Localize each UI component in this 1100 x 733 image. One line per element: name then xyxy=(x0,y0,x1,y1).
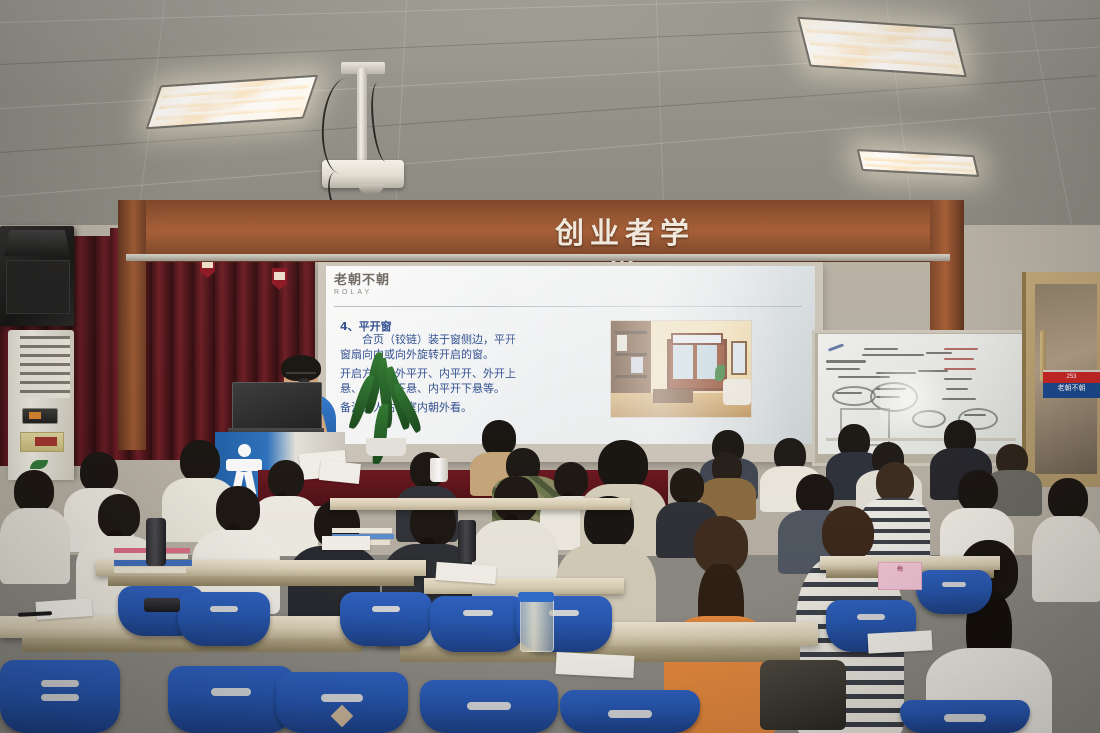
chair-near-4[interactable] xyxy=(420,680,558,733)
paper-row2 xyxy=(322,536,370,550)
slide-logo-en: ROLAY xyxy=(334,289,422,296)
cup-white[interactable] xyxy=(430,458,448,482)
chair-near-5[interactable] xyxy=(560,690,700,733)
classroom-photo: 创业者学堂 老朝不朝 ROLAY 4、平开窗 合页（铰链）装于窗侧边，平开窗扇向… xyxy=(0,0,1100,733)
desk-shelf-2 xyxy=(108,576,414,586)
laptop-screen[interactable] xyxy=(232,382,322,432)
wall-speaker xyxy=(0,226,74,326)
door-sign-number: 253 xyxy=(1043,372,1100,383)
ac-eco-icon xyxy=(30,460,48,469)
ac-display-panel[interactable] xyxy=(22,408,58,424)
slide-brand-logo: 老朝不朝 ROLAY xyxy=(334,274,422,300)
name-card: 梅 xyxy=(878,562,922,590)
ac-brand-label xyxy=(20,432,64,452)
chair-far-7[interactable] xyxy=(916,570,992,614)
front-table-papers-2 xyxy=(319,460,361,484)
chair-near-6[interactable] xyxy=(900,700,1030,733)
slide-logo-zh: 老朝不朝 xyxy=(334,274,422,288)
desk-row-3 xyxy=(330,498,630,510)
wood-trim-left xyxy=(118,200,146,450)
door-sign: 253 老朝不朝 xyxy=(1043,370,1100,398)
chair-far-4[interactable] xyxy=(430,596,526,652)
chair-far-3[interactable] xyxy=(340,592,432,646)
banner-title: 创业者学堂 xyxy=(540,212,710,254)
thermos-mid[interactable] xyxy=(458,520,476,562)
phone-on-desk[interactable] xyxy=(144,598,180,612)
chair-far-2[interactable] xyxy=(178,592,270,646)
wood-header-panel xyxy=(118,200,958,262)
name-card-text: 梅 xyxy=(879,563,921,574)
chair-near-1[interactable] xyxy=(0,660,120,733)
paper-near-right xyxy=(868,630,933,653)
bottle-lid xyxy=(518,592,554,602)
water-bottle-dark[interactable] xyxy=(146,518,166,566)
door-sign-brand: 老朝不朝 xyxy=(1043,383,1100,394)
student-near-11 xyxy=(1032,478,1100,598)
screen-glare xyxy=(486,266,815,444)
screen-roller-rail xyxy=(126,254,950,261)
water-bottle-clear[interactable] xyxy=(520,598,554,652)
bag-on-chair xyxy=(760,660,846,730)
student-near-1 xyxy=(0,470,70,580)
paper-near-mid xyxy=(555,652,634,678)
chair-near-3[interactable] xyxy=(276,672,408,733)
ac-vents xyxy=(20,336,70,398)
